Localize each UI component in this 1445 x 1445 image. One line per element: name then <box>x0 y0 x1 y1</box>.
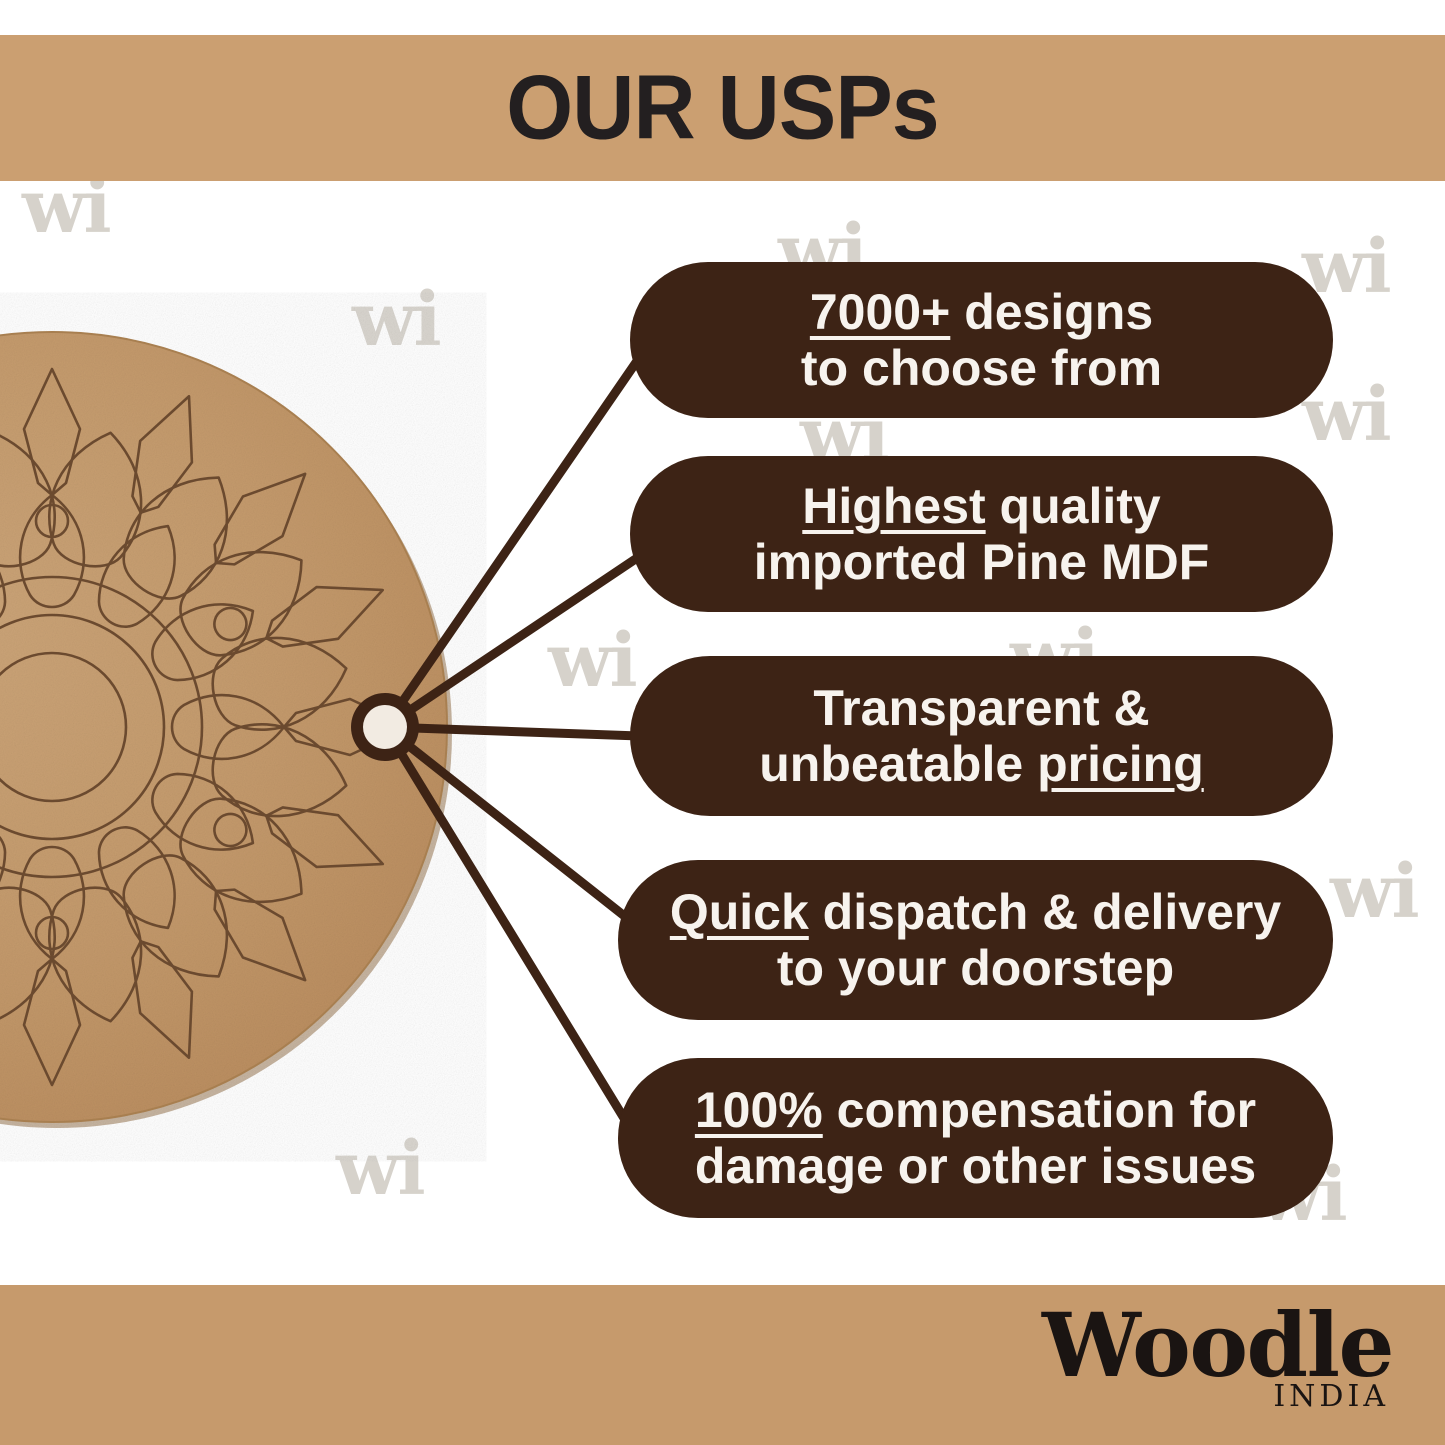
usp-highlight: 7000+ <box>810 284 950 340</box>
usp-line-rest: quality <box>986 478 1161 534</box>
usp-pill-line-2: to choose from <box>801 340 1162 396</box>
usp-line-rest: unbeatable <box>759 736 1037 792</box>
usp-pill-designs[interactable]: 7000+ designs to choose from <box>630 262 1333 418</box>
usp-pill-pricing[interactable]: Transparent & unbeatable pricing <box>630 656 1333 816</box>
usp-pill-line-2: to your doorstep <box>777 940 1174 996</box>
footer-band: Woodle INDIA <box>0 1285 1445 1445</box>
brand-logo: Woodle INDIA <box>1042 1299 1393 1414</box>
mandala-mdf-artwork <box>0 181 700 1285</box>
usp-highlight: Quick <box>670 884 809 940</box>
usp-line-rest: designs <box>950 284 1153 340</box>
usp-pill-line-1: Highest quality <box>802 478 1160 534</box>
usp-pill-dispatch[interactable]: Quick dispatch & delivery to your doorst… <box>618 860 1333 1020</box>
usp-pill-line-1: 7000+ designs <box>810 284 1153 340</box>
usp-infographic-page: wi wi wi wi wi wi wi wi wi wi wi wi <box>0 0 1445 1445</box>
usp-line-rest: compensation for <box>823 1082 1256 1138</box>
watermark-wi: wi <box>1330 855 1417 929</box>
header-band: OUR USPs <box>0 35 1445 181</box>
usp-pill-line-2: damage or other issues <box>695 1138 1256 1194</box>
usp-highlight: pricing <box>1037 736 1204 792</box>
usp-pill-quality[interactable]: Highest quality imported Pine MDF <box>630 456 1333 612</box>
usp-pill-line-2: imported Pine MDF <box>754 534 1210 590</box>
brand-wordmark: Woodle <box>1042 1299 1393 1391</box>
usp-pill-line-1: Transparent & <box>813 680 1149 736</box>
usp-pill-line-1: 100% compensation for <box>695 1082 1256 1138</box>
usp-highlight: Highest <box>802 478 985 534</box>
disc-body <box>0 332 447 1122</box>
usp-pill-line-1: Quick dispatch & delivery <box>670 884 1281 940</box>
usp-line-rest: dispatch & delivery <box>809 884 1281 940</box>
usp-pill-line-2: unbeatable pricing <box>759 736 1204 792</box>
page-title: OUR USPs <box>506 56 938 161</box>
usp-highlight: 100% <box>695 1082 823 1138</box>
usp-pill-compensation[interactable]: 100% compensation for damage or other is… <box>618 1058 1333 1218</box>
